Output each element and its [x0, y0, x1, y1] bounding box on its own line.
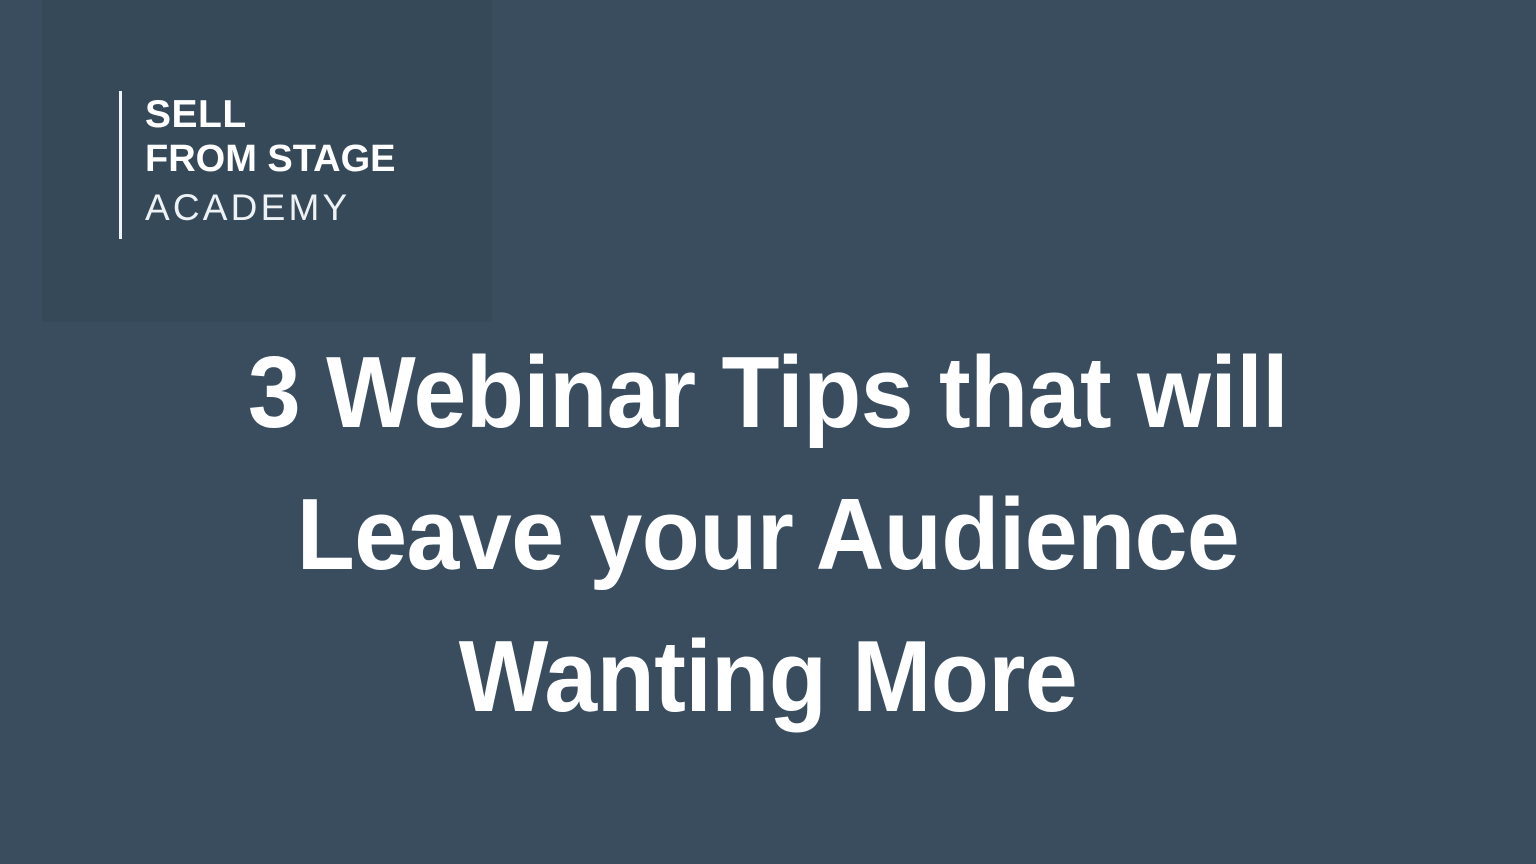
logo-line-from-stage: FROM STAGE — [145, 137, 475, 182]
headline-line-1: 3 Webinar Tips that will — [46, 322, 1490, 464]
slide-headline: 3 Webinar Tips that will Leave your Audi… — [46, 322, 1490, 748]
headline-line-3: Wanting More — [46, 606, 1490, 748]
logo-line-sell: SELL — [145, 92, 475, 137]
brand-logo-panel: SELL FROM STAGE ACADEMY — [42, 0, 492, 322]
logo-vertical-rule-icon — [119, 91, 122, 239]
logo-line-academy: ACADEMY — [145, 182, 475, 234]
title-slide: SELL FROM STAGE ACADEMY 3 Webinar Tips t… — [0, 0, 1536, 864]
headline-line-2: Leave your Audience — [46, 464, 1490, 606]
brand-wordmark: SELL FROM STAGE ACADEMY — [145, 92, 475, 234]
